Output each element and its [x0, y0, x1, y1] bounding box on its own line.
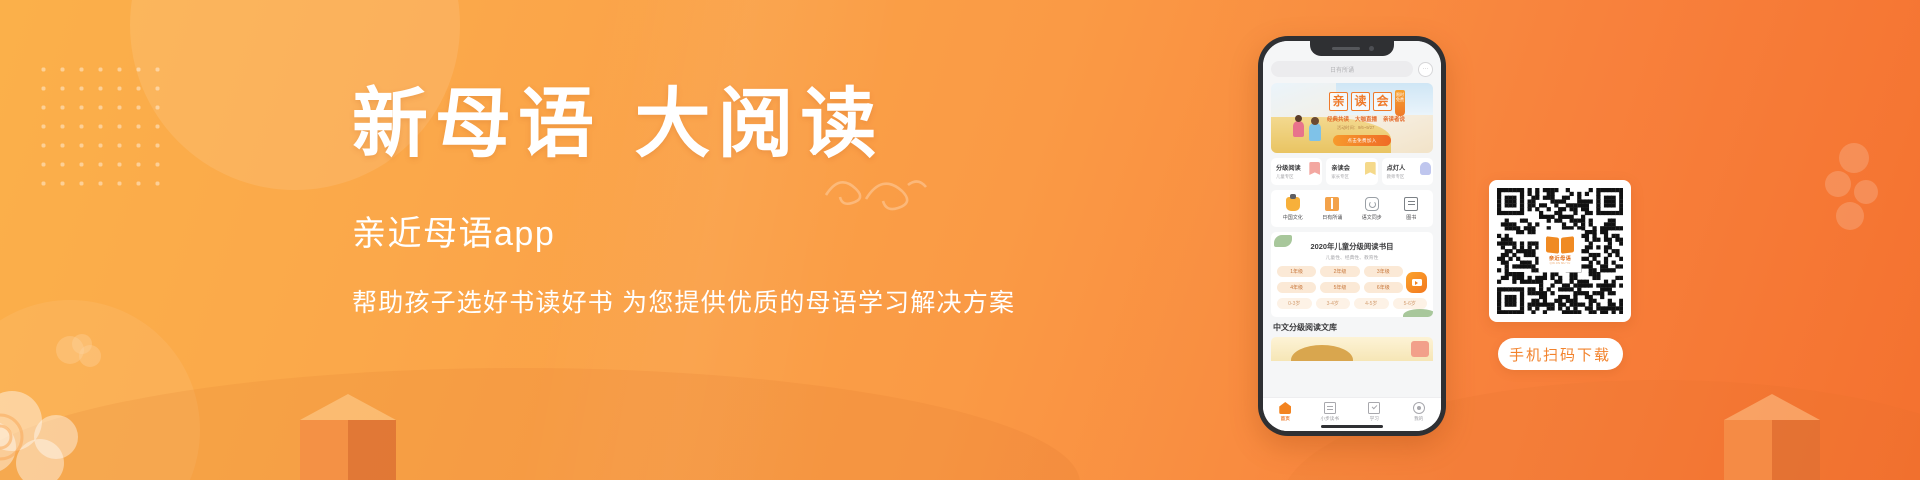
qr-download-group: 亲近母语 QIN JIN MU YU 手机扫码下载 [1489, 180, 1631, 370]
decor-hill-left [0, 368, 1080, 480]
grade-chip-row-2: 4年级 5年级 6年级 [1277, 282, 1427, 293]
quick-icon-label: 中国文化 [1273, 214, 1313, 221]
hero-date-text: 活动时间：9/6~9/27 [1337, 125, 1374, 131]
booklist-card: 2020年儿童分级阅读书目 儿童性、经典性、教育性 1年级 2年级 3年级 4年… [1271, 232, 1433, 317]
book-icon [1404, 197, 1418, 211]
decor-circle-bottom-left [0, 300, 200, 480]
tab-home[interactable]: 首页 [1263, 402, 1308, 422]
lamp-purple-icon [1420, 162, 1431, 175]
hero-subitem: 经典共读 [1327, 115, 1349, 123]
hero-title-char: 亲 [1329, 92, 1348, 111]
booklist-subtitle: 儿童性、经典性、教育性 [1277, 254, 1427, 261]
age-chip[interactable]: 4-5岁 [1354, 298, 1389, 309]
quick-icon-recite[interactable]: 日有所诵 [1313, 197, 1353, 221]
video-play-icon[interactable] [1406, 272, 1427, 293]
hero-subitem: 亲读者说 [1383, 115, 1405, 123]
decor-ribbon-icon [1820, 140, 1890, 270]
decor-cube-left [300, 394, 396, 480]
tab-read[interactable]: 小步读书 [1308, 402, 1353, 422]
recite-icon [1325, 197, 1339, 211]
promo-banner: 新母语 大阅读 亲近母语app 帮助孩子选好书读好书 为您提供优质的母语学习解决… [0, 0, 1920, 480]
banner-tagline: 帮助孩子选好书读好书 为您提供优质的母语学习解决方案 [352, 283, 1052, 319]
library-section-title: 中文分级阅读文库 [1273, 322, 1433, 333]
grade-chip[interactable]: 1年级 [1277, 266, 1316, 277]
banner-copy: 新母语 大阅读 亲近母语app 帮助孩子选好书读好书 为您提供优质的母语学习解决… [352, 84, 1052, 319]
hero-subitem: 大咖直播 [1355, 115, 1377, 123]
age-chip[interactable]: 5-6岁 [1393, 298, 1428, 309]
profile-icon [1413, 402, 1425, 414]
decor-dot-grid [34, 60, 174, 190]
decor-cloud-small-icon [52, 330, 112, 372]
booklist-title: 2020年儿童分级阅读书目 [1277, 241, 1427, 252]
hero-title: 亲 读 会 [1329, 92, 1392, 111]
age-chip[interactable]: 3-4岁 [1316, 298, 1351, 309]
zone-card-row: 分级阅读 儿童专区 亲读会 家长专区 点灯人 教师专区 [1271, 158, 1433, 185]
quick-icon-culture[interactable]: 中国文化 [1273, 197, 1313, 221]
zone-card-parent-club[interactable]: 亲读会 家长专区 [1326, 158, 1377, 185]
decor-cube-right [1724, 394, 1820, 480]
message-icon[interactable]: ··· [1418, 62, 1433, 77]
download-button[interactable]: 手机扫码下载 [1498, 338, 1623, 370]
zone-card-teacher[interactable]: 点灯人 教师专区 [1382, 158, 1433, 185]
tab-label: 小步读书 [1308, 416, 1353, 422]
sync-icon [1365, 197, 1379, 211]
decor-cloud-icon [0, 385, 120, 480]
qr-center-logo: 亲近母语 QIN JIN MU YU [1540, 231, 1580, 271]
study-icon [1368, 402, 1380, 414]
grade-chip[interactable]: 2年级 [1320, 266, 1359, 277]
culture-icon [1286, 197, 1300, 211]
grade-chip[interactable]: 3年级 [1364, 266, 1403, 277]
illustration-child-a [1293, 121, 1304, 137]
page-title: 新母语 大阅读 [352, 84, 1052, 164]
app-screen: 日有所诵 ··· 亲 读 会 限时免费 经典共读 大咖直播 [1263, 41, 1441, 431]
zone-subtitle: 家长专区 [1331, 174, 1373, 180]
hero-flag-badge: 限时免费 [1395, 90, 1405, 116]
leaf-decor-icon [1403, 309, 1433, 317]
tab-study[interactable]: 学习 [1352, 402, 1397, 422]
hero-title-char: 会 [1373, 92, 1392, 111]
home-indicator [1321, 425, 1383, 428]
grade-chip[interactable]: 6年级 [1364, 282, 1403, 293]
tab-mine[interactable]: 我的 [1397, 402, 1442, 422]
quick-icon-label: 日有所诵 [1313, 214, 1353, 221]
hero-subitems: 经典共读 大咖直播 亲读者说 [1327, 115, 1405, 123]
read-icon [1324, 402, 1336, 414]
grade-chip[interactable]: 5年级 [1320, 282, 1359, 293]
phone-mockup: 日有所诵 ··· 亲 读 会 限时免费 经典共读 大咖直播 [1258, 36, 1446, 436]
quick-icon-label: 语文同步 [1352, 214, 1392, 221]
library-card[interactable] [1271, 337, 1433, 361]
qr-logo-pinyin: QIN JIN MU YU [1550, 262, 1571, 265]
zone-card-graded-reading[interactable]: 分级阅读 儿童专区 [1271, 158, 1322, 185]
age-chip-row: 0-3岁 3-4岁 4-5岁 5-6岁 [1277, 298, 1427, 309]
open-book-icon [1546, 237, 1574, 253]
illustration-child-b [1309, 123, 1321, 141]
qr-code[interactable]: 亲近母语 QIN JIN MU YU [1489, 180, 1631, 322]
hero-banner-card[interactable]: 亲 读 会 限时免费 经典共读 大咖直播 亲读者说 活动时间：9/6~9/27 … [1271, 83, 1433, 153]
hero-join-button[interactable]: 点击免费加入 [1333, 135, 1391, 146]
quick-icon-label: 图书 [1392, 214, 1432, 221]
quick-icon-sync[interactable]: 语文同步 [1352, 197, 1392, 221]
zone-subtitle: 儿童专区 [1276, 174, 1318, 180]
hero-title-char: 读 [1351, 92, 1370, 111]
home-icon [1279, 402, 1291, 414]
tab-label: 首页 [1263, 416, 1308, 422]
quick-icon-book[interactable]: 图书 [1392, 197, 1432, 221]
tab-label: 学习 [1352, 416, 1397, 422]
grade-chip-row-1: 1年级 2年级 3年级 [1277, 266, 1427, 277]
qr-logo-name: 亲近母语 [1549, 255, 1571, 262]
quick-icon-row: 中国文化 日有所诵 语文同步 图书 [1271, 190, 1433, 227]
tab-label: 我的 [1397, 416, 1442, 422]
search-input[interactable]: 日有所诵 [1271, 61, 1413, 77]
phone-notch [1310, 41, 1394, 56]
grade-chip[interactable]: 4年级 [1277, 282, 1316, 293]
age-chip[interactable]: 0-3岁 [1277, 298, 1312, 309]
app-name-label: 亲近母语app [352, 206, 1052, 255]
